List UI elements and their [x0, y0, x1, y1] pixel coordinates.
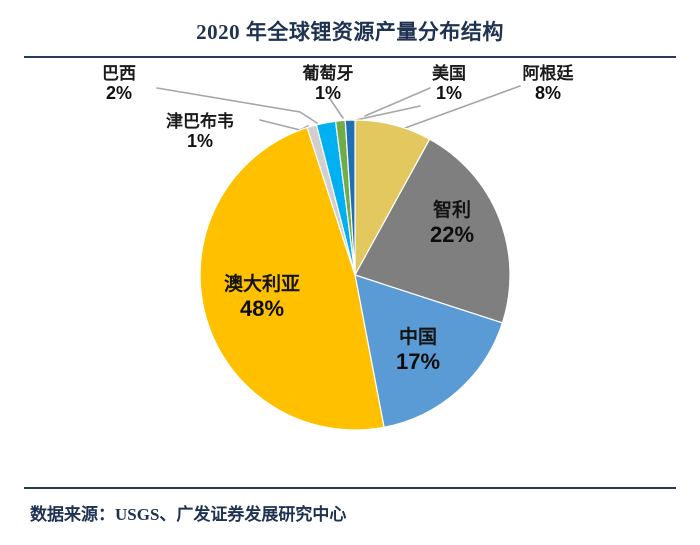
footer-divider-rule — [24, 487, 676, 489]
callout-category-zimbabwe: 津巴布韦 — [144, 112, 256, 131]
callout-value-zimbabwe: 1% — [144, 131, 256, 151]
slice-value-chile: 22% — [405, 222, 499, 247]
slice-label-australia: 澳大利亚 48% — [196, 274, 328, 321]
callout-category-usa: 美国 — [412, 64, 486, 83]
pie-chart-svg — [0, 58, 700, 486]
slice-value-china: 17% — [372, 349, 464, 374]
slice-category-china: 中国 — [372, 327, 464, 349]
page-title: 2020 年全球锂资源产量分布结构 — [0, 16, 700, 46]
slice-value-australia: 48% — [196, 296, 328, 321]
callout-label-usa: 美国 1% — [412, 64, 486, 103]
slice-category-chile: 智利 — [405, 200, 499, 222]
callout-value-usa: 1% — [412, 83, 486, 103]
callout-label-brazil: 巴西 2% — [82, 64, 156, 103]
leader-line-usa-2 — [356, 106, 420, 120]
source-note: 数据来源：USGS、广发证券发展研究中心 — [30, 500, 346, 525]
callout-category-brazil: 巴西 — [82, 64, 156, 83]
callout-value-portugal: 1% — [282, 83, 374, 103]
chart-plot-area: 巴西 2% 津巴布韦 1% 葡萄牙 1% 美国 1% 阿根廷 8% 智利 22%… — [0, 58, 700, 486]
callout-value-brazil: 2% — [82, 83, 156, 103]
callout-value-argentina: 8% — [502, 83, 594, 103]
callout-label-portugal: 葡萄牙 1% — [282, 64, 374, 103]
callout-label-argentina: 阿根廷 8% — [502, 64, 594, 103]
callout-category-portugal: 葡萄牙 — [282, 64, 374, 83]
leader-line-zimbabwe — [260, 120, 308, 130]
slice-category-australia: 澳大利亚 — [196, 274, 328, 296]
callout-category-argentina: 阿根廷 — [502, 64, 594, 83]
slice-label-chile: 智利 22% — [405, 200, 499, 247]
slice-label-china: 中国 17% — [372, 327, 464, 374]
callout-label-zimbabwe: 津巴布韦 1% — [144, 112, 256, 151]
